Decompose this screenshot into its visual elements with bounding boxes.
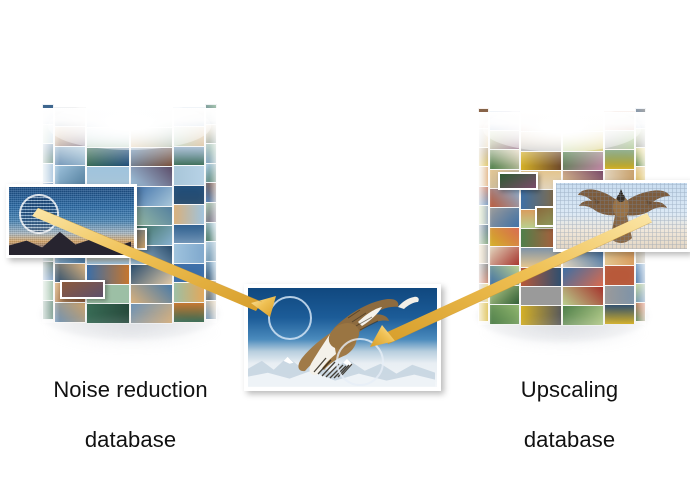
cylinder-thumbnail <box>205 143 217 164</box>
cylinder-thumbnail <box>478 263 489 283</box>
cylinder-thumbnail <box>478 186 489 206</box>
cylinder-thumbnail <box>520 267 562 287</box>
cylinder-thumbnail <box>205 300 217 321</box>
cylinder-thumbnail <box>205 182 217 203</box>
cylinder-thumbnail <box>489 188 520 208</box>
noise-region-highlight-circle <box>19 194 59 234</box>
cylinder-thumbnail <box>86 147 130 168</box>
cylinder-thumbnail <box>489 246 520 266</box>
cylinder-thumbnail <box>635 147 646 167</box>
label-line-2: database <box>85 427 176 452</box>
diagram-canvas: Noise reduction database Upscaling datab… <box>0 0 690 500</box>
sky-noise-region-highlight-circle <box>268 296 312 340</box>
cylinder-thumbnail <box>520 286 562 306</box>
cylinder-thumbnail <box>562 151 604 171</box>
cylinder-thumbnail <box>478 147 489 167</box>
upscaling-sample-photo <box>556 183 687 249</box>
cylinder-thumbnail <box>42 280 54 301</box>
cylinder-thumbnail <box>173 185 205 206</box>
cylinder-top-face <box>48 102 211 150</box>
cylinder-thumbnail <box>42 300 54 321</box>
cylinder-thumbnail <box>130 147 174 168</box>
cylinder-thumbnail <box>489 149 520 169</box>
cylinder-thumbnail <box>635 263 646 283</box>
noise-sample-photo <box>9 187 134 255</box>
detail-upscale-region-highlight-circle <box>336 338 384 386</box>
cylinder-thumbnail <box>478 244 489 264</box>
cylinder-thumbnail <box>42 163 54 184</box>
cylinder-thumbnail <box>205 163 217 184</box>
cylinder-thumbnail <box>42 261 54 282</box>
cylinder-thumbnail <box>562 267 604 287</box>
cylinder-thumbnail <box>635 302 646 322</box>
label-line-1: Upscaling <box>521 377 619 402</box>
cylinder-thumbnail <box>173 224 205 245</box>
cylinder-thumbnail <box>205 222 217 243</box>
upscaling-database-label: Upscaling database <box>462 352 677 452</box>
cylinder-thumbnail <box>489 207 520 227</box>
cylinder-thumbnail <box>478 302 489 322</box>
cylinder-featured-thumbnail <box>498 172 538 190</box>
noise-reduction-database-label: Noise reduction database <box>18 352 243 452</box>
cylinder-thumbnail <box>489 265 520 285</box>
cylinder-thumbnail <box>604 149 635 169</box>
cylinder-thumbnail <box>173 165 205 186</box>
cylinder-thumbnail <box>173 282 205 303</box>
target-photo-card[interactable] <box>244 284 441 391</box>
cylinder-thumbnail <box>478 283 489 303</box>
cylinder-thumbnail <box>489 285 520 305</box>
cylinder-reflection-left <box>44 316 220 352</box>
label-line-1: Noise reduction <box>53 377 207 402</box>
upscaling-sample-thumbnail[interactable] <box>553 180 690 252</box>
noise-sample-thumbnail[interactable] <box>6 184 137 258</box>
cylinder-thumbnail <box>205 261 217 282</box>
cylinder-thumbnail <box>173 204 205 225</box>
cylinder-thumbnail <box>478 166 489 186</box>
cylinder-thumbnail <box>489 227 520 247</box>
cylinder-thumbnail <box>54 165 86 186</box>
cylinder-featured-thumbnail <box>60 280 106 299</box>
cylinder-thumbnail <box>205 241 217 262</box>
cylinder-thumbnail <box>562 286 604 306</box>
cylinder-thumbnail <box>173 243 205 264</box>
cylinder-reflection-right <box>480 318 648 352</box>
cylinder-thumbnail <box>173 263 205 284</box>
cylinder-thumbnail <box>205 202 217 223</box>
cylinder-thumbnail <box>604 265 635 285</box>
cylinder-thumbnail <box>604 285 635 305</box>
cylinder-thumbnail <box>42 143 54 164</box>
cylinder-thumbnail <box>130 284 174 305</box>
cylinder-thumbnail <box>205 280 217 301</box>
cylinder-thumbnail <box>635 283 646 303</box>
cylinder-thumbnail <box>478 224 489 244</box>
cylinder-thumbnail <box>478 205 489 225</box>
cylinder-thumbnail <box>54 146 86 167</box>
cylinder-thumbnail <box>130 264 174 285</box>
cylinder-top-face <box>483 106 641 152</box>
target-photo <box>248 288 437 387</box>
cylinder-thumbnail <box>173 146 205 167</box>
pixel-grid-overlay <box>556 183 687 249</box>
cylinder-thumbnail <box>520 151 562 171</box>
label-line-2: database <box>524 427 615 452</box>
